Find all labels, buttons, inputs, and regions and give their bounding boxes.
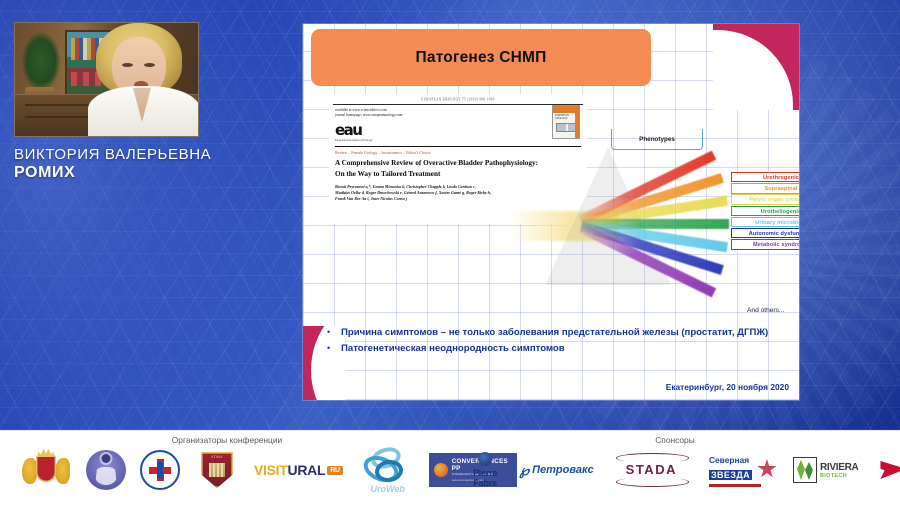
riviera-leaf-icon [793, 457, 817, 483]
coat-bear-left-icon [22, 458, 37, 484]
journal-citation-line: EUROPEAN UROLOGY 75 (2019) 988-1000 [329, 93, 587, 102]
slide-bullet-list: •Причина симптомов – не только заболеван… [327, 326, 777, 358]
phenotype-label: Metabolic syndrome [731, 239, 799, 249]
sponsors-group: Спонсоры Pierre Fabre ℘ Петровакс STADA [455, 435, 895, 490]
severnaya-underline [709, 484, 761, 487]
broadcast-stage: ВИКТОРИЯ ВАЛЕРЬЕВНА РОМИХ Патогенез СНМП… [0, 0, 900, 430]
usmu-crest-label: УГМУ [194, 454, 240, 459]
sverdlovsk-coat-of-arms-logo[interactable] [20, 450, 72, 490]
pierre-fabre-logo[interactable]: Pierre Fabre [473, 450, 497, 490]
astellas-arrow-icon [880, 461, 900, 479]
phenotypes-label: Phenotypes [639, 136, 675, 143]
speaker-eye-right [144, 63, 155, 67]
speaker-nameplate: ВИКТОРИЯ ВАЛЕРЬЕВНА РОМИХ [14, 146, 274, 182]
visitural-badge-ru: RU [327, 466, 343, 475]
prism-figure: Phenotypes UrethrogenicSupraspinalPelvic… [519, 129, 787, 339]
petrovax-wordmark: Петровакс [532, 464, 594, 476]
and-others-text: And others... [747, 307, 784, 314]
astellas-logo[interactable]: astellas [880, 450, 900, 490]
stada-wordmark: STADA [626, 462, 677, 477]
phenotype-label: Urinary microbiota [731, 217, 799, 227]
corner-decoration-top-right [713, 24, 799, 110]
speaker-video-figure [88, 22, 199, 136]
severnaya-line2: ЗВЕЗДА [709, 470, 752, 480]
urowed-logo[interactable]: UroWeb [357, 450, 415, 490]
petrovax-mark: ℘ Петровакс [519, 462, 593, 479]
urfu-circle-icon [86, 450, 126, 490]
urfu-emblem-logo[interactable] [86, 450, 126, 490]
pierre-fabre-mark: Pierre Fabre [473, 452, 497, 488]
slide-title: Патогенез СНМП [416, 49, 547, 67]
speaker-eye-left [122, 63, 133, 67]
phenotype-label: Supraspinal [731, 183, 799, 193]
pierre-fabre-wordmark: Pierre Fabre [473, 468, 497, 488]
phenotype-label: Autonomic dysfunction [731, 228, 799, 238]
stada-logo[interactable]: STADA [616, 450, 687, 490]
speaker-torso [88, 86, 199, 136]
severnaya-zvezda-logo[interactable]: Северная ЗВЕЗДА [709, 450, 771, 490]
severnaya-line1: Северная [709, 455, 771, 465]
phenotype-label: Urethrogenic [731, 172, 799, 182]
speaker-webcam-feed[interactable] [14, 22, 199, 137]
organizer-logos: УГМУ VISITURALRU UroWeb [12, 450, 442, 490]
riviera-wordmark: RIVIERA [820, 462, 858, 473]
urowed-ribbon-icon: UroWeb [357, 448, 415, 492]
petrovax-logo[interactable]: ℘ Петровакс [519, 450, 593, 490]
coat-shield-icon [36, 455, 56, 482]
bullet-text: Патогенетическая неоднородность симптомо… [341, 342, 565, 356]
sponsor-logos: Pierre Fabre ℘ Петровакс STADA Северная … [455, 450, 895, 490]
phenotype-label: Pelvic organ cross-talk [731, 194, 799, 204]
slide-title-banner: Патогенез СНМП [311, 29, 651, 86]
paper-availability-lines: available at www.sciencedirect.com journ… [329, 105, 587, 119]
riviera-text-block: RIVIERA BIOTECH [820, 462, 858, 479]
visitural-wordmark: VISITURALRU [254, 462, 343, 478]
speaker-first-names: ВИКТОРИЯ ВАЛЕРЬЕВНА [14, 146, 274, 163]
slide-bullet-item: •Патогенетическая неоднородность симптом… [327, 342, 777, 356]
speaker-surname: РОМИХ [14, 164, 274, 182]
stada-mark: STADA [616, 455, 687, 485]
riviera-subtext: BIOTECH [820, 473, 858, 479]
visitural-text-visit: VISIT [254, 462, 288, 478]
organizers-caption: Организаторы конференции [12, 435, 442, 445]
medical-cross-icon [140, 450, 180, 490]
presentation-slide[interactable]: Патогенез СНМП EUROPEAN UROLOGY 75 (2019… [303, 24, 799, 400]
pierre-fabre-circle-icon [478, 452, 492, 466]
bullet-text: Причина симптомов – не только заболевани… [341, 326, 768, 340]
slide-bullet-item: •Причина симптомов – не только заболеван… [327, 326, 777, 340]
spectrum-rays [581, 173, 729, 269]
sponsor-footer-bar: Организаторы конференции УГМУ [0, 430, 900, 508]
organizers-group: Организаторы конференции УГМУ [12, 435, 442, 490]
visitural-logo[interactable]: VISITURALRU [254, 450, 343, 490]
astellas-mark: astellas [880, 461, 900, 479]
usmu-crest-logo[interactable]: УГМУ [194, 450, 240, 490]
bullet-marker-icon: • [327, 342, 341, 355]
usmu-crest-icon: УГМУ [194, 450, 240, 490]
coat-crown-icon [38, 449, 54, 457]
riviera-mark: RIVIERA BIOTECH [793, 457, 858, 483]
medical-cross-logo[interactable] [140, 450, 180, 490]
convergences-sphere-icon [434, 463, 448, 477]
bullet-marker-icon: • [327, 326, 341, 339]
petrovax-symbol-icon: ℘ [519, 462, 529, 479]
phenotype-label-list: UrethrogenicSupraspinalPelvic organ cros… [731, 172, 799, 250]
sponsors-caption: Спонсоры [455, 435, 895, 445]
phenotype-label: Urotheliogenic [731, 206, 799, 216]
severnaya-zvezda-mark: Северная ЗВЕЗДА [709, 455, 771, 485]
urowed-wordmark: UroWeb [359, 484, 417, 494]
riviera-biotech-logo[interactable]: RIVIERA BIOTECH [793, 450, 858, 490]
visitural-text-ural: URAL [288, 462, 326, 478]
slide-footer-location-date: Екатеринбург, 20 ноября 2020 [666, 382, 789, 392]
coat-of-arms-icon [20, 450, 72, 490]
coat-bear-right-icon [55, 458, 70, 484]
